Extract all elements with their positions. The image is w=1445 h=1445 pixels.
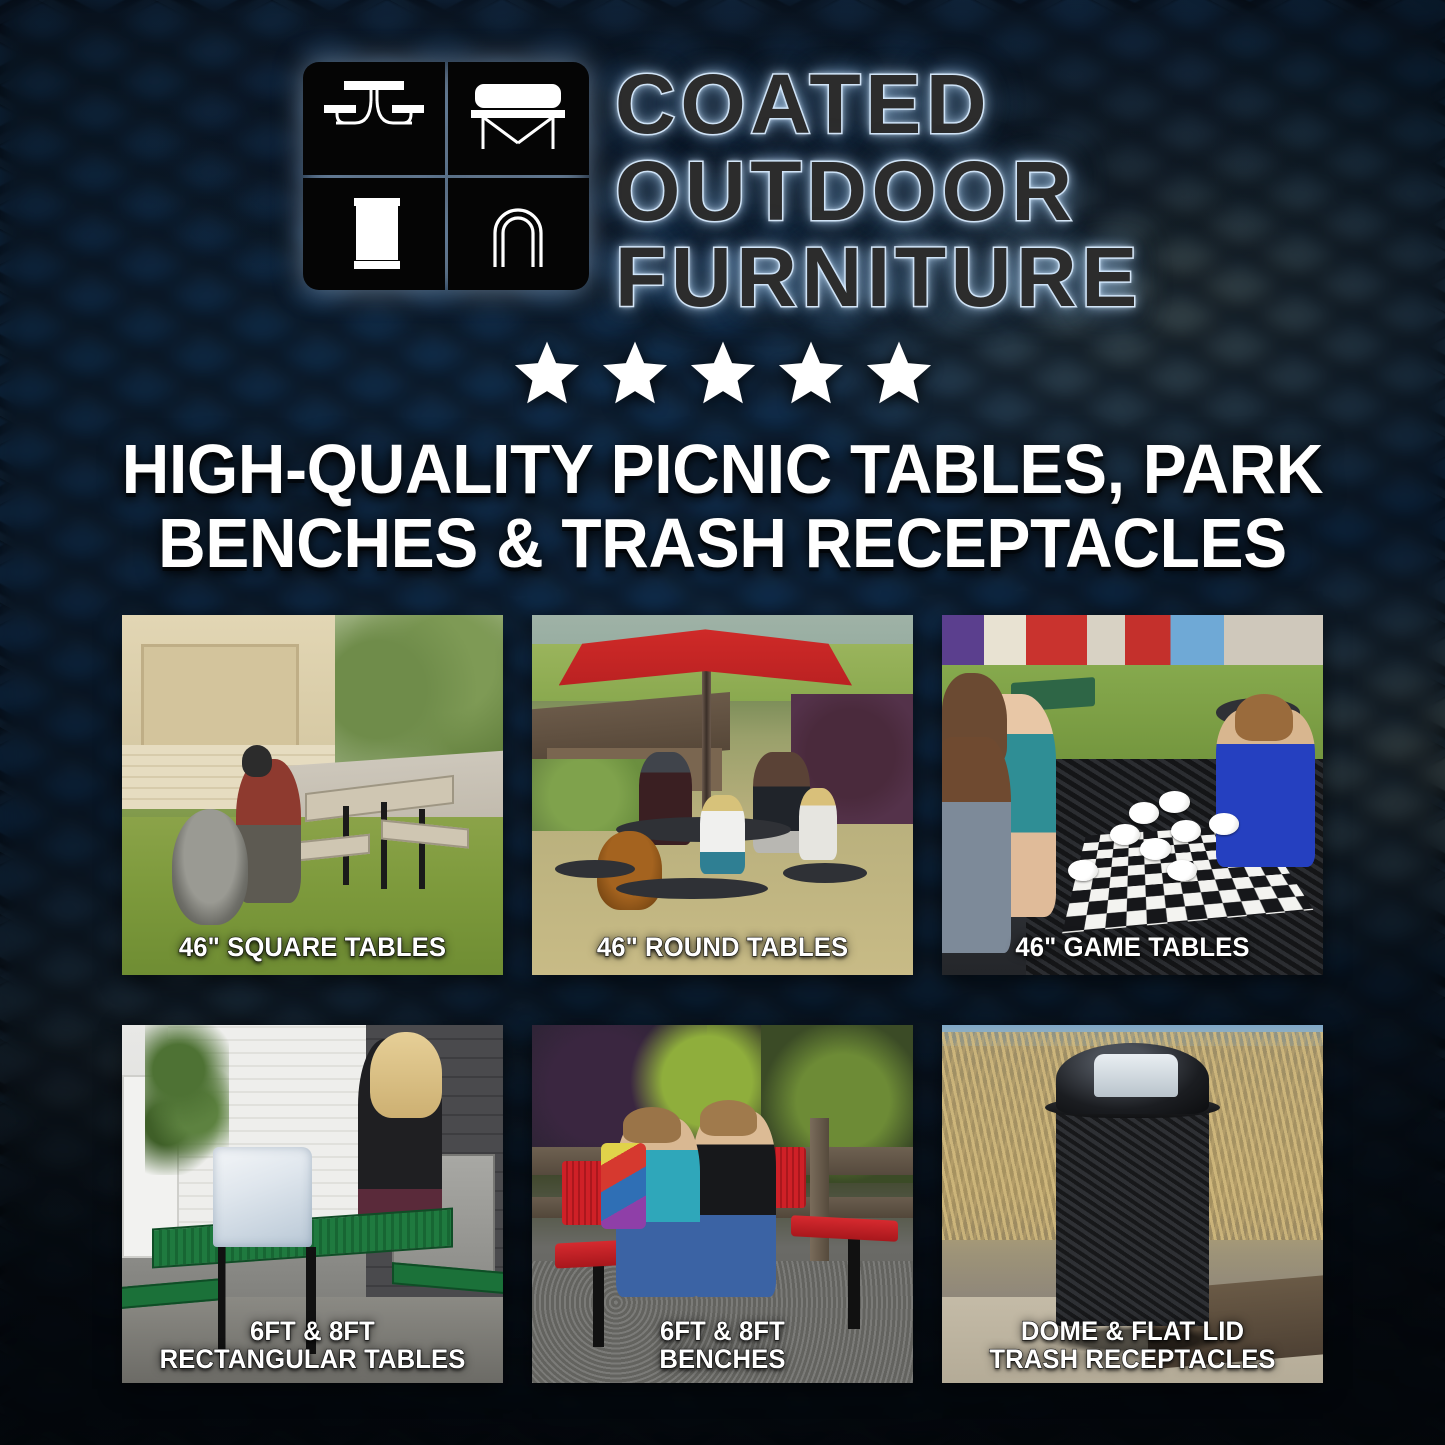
caption-line: 6FT & 8FT xyxy=(137,1317,488,1345)
product-caption-round-tables: 46" ROUND TABLES xyxy=(542,933,904,961)
product-photo-square-tables xyxy=(122,615,503,975)
product-caption-benches: 6FT & 8FT BENCHES xyxy=(542,1317,904,1373)
picnic-table-icon xyxy=(303,62,445,175)
caption-line: TRASH RECEPTACLES xyxy=(957,1345,1308,1373)
product-tile-benches[interactable]: 6FT & 8FT BENCHES xyxy=(532,1025,913,1383)
caption-line: RECTANGULAR TABLES xyxy=(137,1345,488,1373)
product-tile-square-tables[interactable]: 46" SQUARE TABLES xyxy=(122,615,503,975)
product-grid: 46" SQUARE TABLES xyxy=(122,615,1323,1383)
star-icon xyxy=(687,338,759,408)
product-tile-game-tables[interactable]: 46" GAME TABLES xyxy=(942,615,1323,975)
caption-line: 6FT & 8FT xyxy=(547,1317,898,1345)
trash-receptacle-icon xyxy=(303,178,445,291)
brand-name-line-1: COATED xyxy=(615,64,991,145)
brand-name-line-3: FURNITURE xyxy=(615,237,1142,318)
bike-rack-icon xyxy=(448,178,590,291)
caption-line: 46" SQUARE TABLES xyxy=(137,933,488,961)
star-icon xyxy=(775,338,847,408)
brand-logo: COATED OUTDOOR FURNITURE xyxy=(0,62,1445,318)
product-caption-game-tables: 46" GAME TABLES xyxy=(952,933,1314,961)
product-tile-rectangular-tables[interactable]: 6FT & 8FT RECTANGULAR TABLES xyxy=(122,1025,503,1383)
brand-wordmark: COATED OUTDOOR FURNITURE xyxy=(615,62,1142,318)
product-photo-game-tables xyxy=(942,615,1323,975)
brand-name-line-2: OUTDOOR xyxy=(615,151,1077,232)
product-caption-rectangular-tables: 6FT & 8FT RECTANGULAR TABLES xyxy=(132,1317,494,1373)
product-photo-round-tables xyxy=(532,615,913,975)
product-tile-trash-receptacles[interactable]: DOME & FLAT LID TRASH RECEPTACLES xyxy=(942,1025,1323,1383)
headline: HIGH-QUALITY PICNIC TABLES, PARK BENCHES… xyxy=(43,432,1401,580)
product-tile-round-tables[interactable]: 46" ROUND TABLES xyxy=(532,615,913,975)
caption-line: 46" GAME TABLES xyxy=(957,933,1308,961)
headline-line-2: BENCHES & TRASH RECEPTACLES xyxy=(94,506,1351,580)
star-rating xyxy=(0,338,1445,408)
promo-graphic: COATED OUTDOOR FURNITURE HIGH-QUALITY PI… xyxy=(0,0,1445,1445)
caption-line: 46" ROUND TABLES xyxy=(547,933,898,961)
caption-line: BENCHES xyxy=(547,1345,898,1373)
star-icon xyxy=(511,338,583,408)
bench-icon xyxy=(448,62,590,175)
product-caption-square-tables: 46" SQUARE TABLES xyxy=(132,933,494,961)
star-icon xyxy=(599,338,671,408)
star-icon xyxy=(863,338,935,408)
headline-line-1: HIGH-QUALITY PICNIC TABLES, PARK xyxy=(94,432,1351,506)
caption-line: DOME & FLAT LID xyxy=(957,1317,1308,1345)
product-caption-trash-receptacles: DOME & FLAT LID TRASH RECEPTACLES xyxy=(952,1317,1314,1373)
logo-mark xyxy=(303,62,589,290)
